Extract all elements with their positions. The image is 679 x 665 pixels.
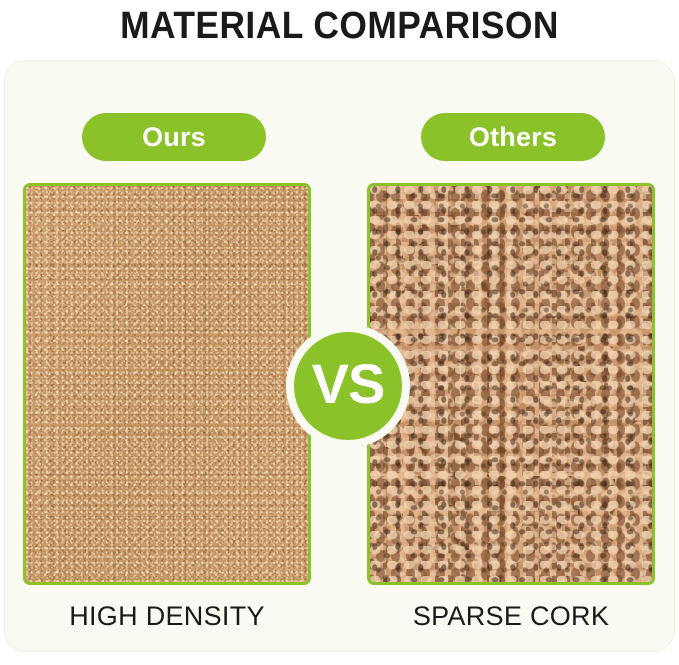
vs-medallion: VS (286, 324, 410, 448)
caption-high-density: HIGH DENSITY (17, 601, 317, 632)
sample-tile-high-density (23, 183, 311, 585)
sample-tile-sparse-cork (367, 183, 655, 585)
comparison-panel: Ours Others VS HIGH DENSITY SPARSE CORK (4, 60, 675, 652)
vs-label: VS (294, 332, 402, 440)
badge-others: Others (421, 113, 605, 161)
fine-dense-cork-texture (26, 186, 308, 582)
badge-ours: Ours (82, 113, 266, 161)
caption-sparse-cork: SPARSE CORK (361, 601, 661, 632)
coarse-sparse-cork-texture (370, 186, 652, 582)
page-title: MATERIAL COMPARISON (24, 0, 655, 52)
